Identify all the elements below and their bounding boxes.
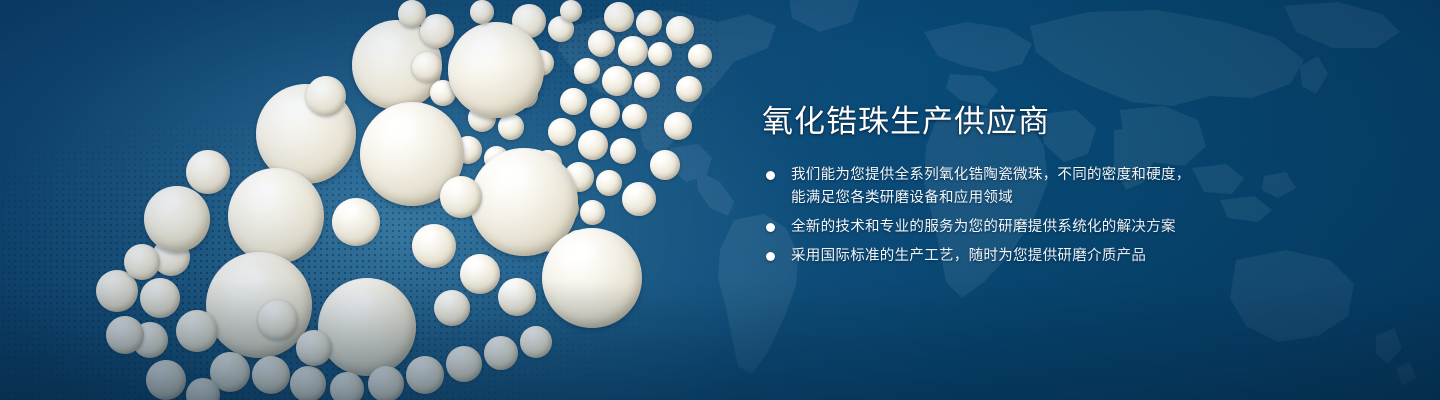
list-item: 采用国际标准的生产工艺，随时为您提供研磨介质产品 [762, 245, 1402, 268]
bullet-dot-icon [766, 223, 775, 232]
list-item-line1: 我们能为您提供全系列氧化锆陶瓷微珠，不同的密度和硬度， [791, 167, 1191, 183]
bullet-dot-icon [766, 171, 775, 180]
page-title: 氧化锆珠生产供应商 [762, 104, 1402, 140]
banner-copy: 氧化锆珠生产供应商 我们能为您提供全系列氧化锆陶瓷微珠，不同的密度和硬度， 能满… [762, 104, 1402, 274]
list-item-text: 采用国际标准的生产工艺，随时为您提供研磨介质产品 [791, 245, 1146, 268]
list-item: 我们能为您提供全系列氧化锆陶瓷微珠，不同的密度和硬度， 能满足您各类研磨设备和应… [762, 164, 1402, 210]
list-item: 全新的技术和专业的服务为您的研磨提供系统化的解决方案 [762, 216, 1402, 239]
list-item-line1: 全新的技术和专业的服务为您的研磨提供系统化的解决方案 [791, 219, 1176, 235]
list-item-text: 我们能为您提供全系列氧化锆陶瓷微珠，不同的密度和硬度， 能满足您各类研磨设备和应… [791, 164, 1191, 210]
list-item-line1: 采用国际标准的生产工艺，随时为您提供研磨介质产品 [791, 248, 1146, 264]
bullet-dot-icon [766, 252, 775, 261]
list-item-line2: 能满足您各类研磨设备和应用领域 [791, 187, 1191, 210]
hero-banner: 氧化锆珠生产供应商 我们能为您提供全系列氧化锆陶瓷微珠，不同的密度和硬度， 能满… [0, 0, 1440, 400]
feature-list: 我们能为您提供全系列氧化锆陶瓷微珠，不同的密度和硬度， 能满足您各类研磨设备和应… [762, 164, 1402, 268]
list-item-text: 全新的技术和专业的服务为您的研磨提供系统化的解决方案 [791, 216, 1176, 239]
